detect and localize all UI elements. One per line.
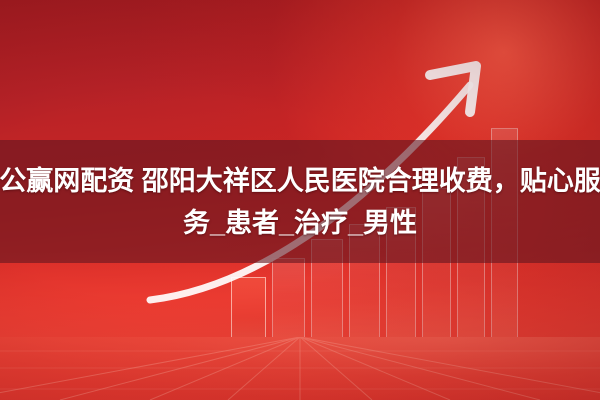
headline-line-1: 公赢网配资 邵阳大祥区人民医院合理收费，贴心服 <box>0 160 600 202</box>
headline-line-2: 务_患者_治疗_男性 <box>183 202 417 244</box>
promo-banner: 公赢网配资 邵阳大祥区人民医院合理收费，贴心服 务_患者_治疗_男性 <box>0 0 600 400</box>
headline: 公赢网配资 邵阳大祥区人民医院合理收费，贴心服 务_患者_治疗_男性 <box>0 140 600 263</box>
